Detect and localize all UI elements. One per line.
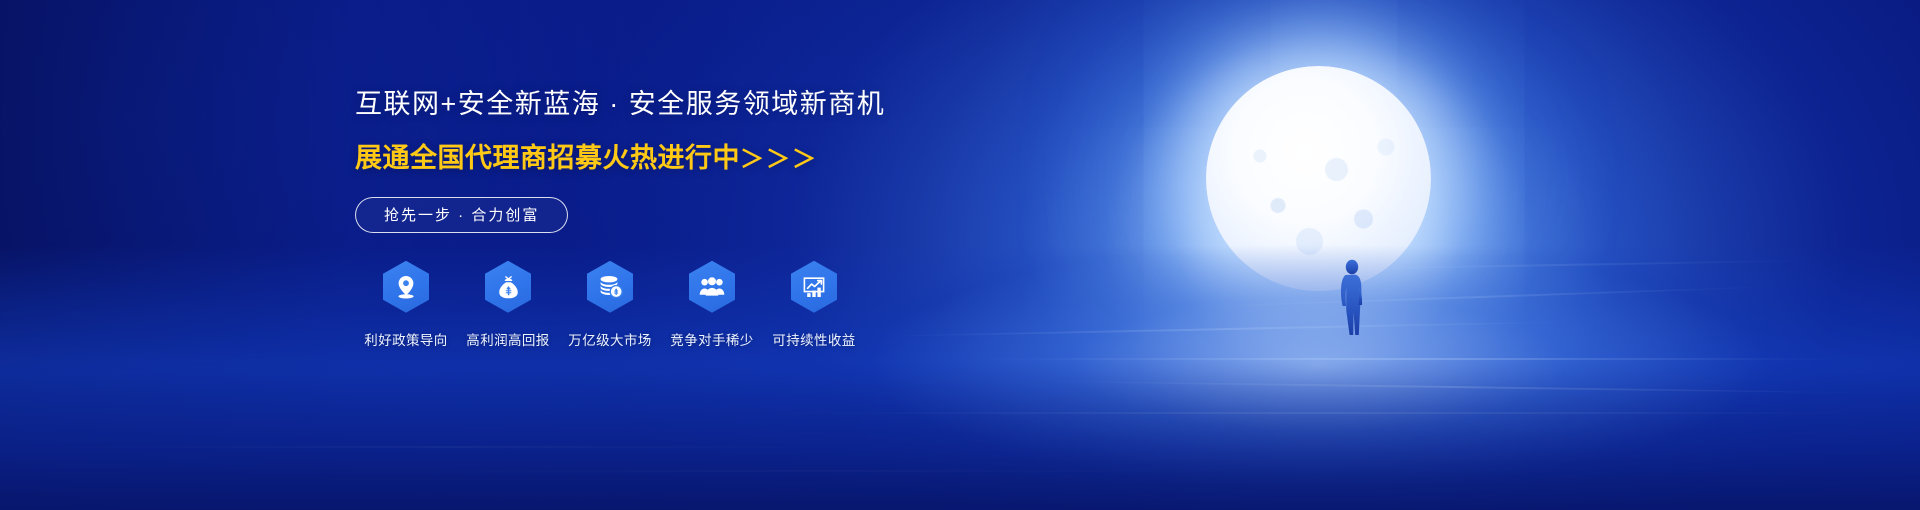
banner-headline: 互联网+安全新蓝海 · 安全服务领域新商机 bbox=[355, 88, 995, 122]
feature-label: 高利润高回报 bbox=[466, 329, 549, 349]
feature-item-competition[interactable]: 竞争对手稀少 bbox=[661, 261, 763, 349]
location-pin-icon bbox=[383, 261, 429, 313]
wave-line bbox=[760, 412, 1910, 414]
wave-line bbox=[1040, 380, 1860, 393]
feature-label: 竞争对手稀少 bbox=[670, 329, 753, 349]
arrows-icon: ＞＞＞ bbox=[740, 146, 818, 173]
banner-subline-text: 展通全国代理商招募火热进行中 bbox=[355, 143, 740, 173]
people-group-icon bbox=[689, 261, 735, 313]
wave-line bbox=[300, 470, 1300, 472]
wave-line bbox=[40, 446, 860, 448]
feature-list: 利好政策导向 高利润高回报 bbox=[355, 261, 995, 349]
feature-label: 利好政策导向 bbox=[364, 329, 447, 349]
feature-item-policy[interactable]: 利好政策导向 bbox=[355, 261, 457, 349]
wave-line bbox=[960, 358, 1860, 360]
wave-line bbox=[1180, 286, 1780, 309]
feature-item-market[interactable]: 万亿级大市场 bbox=[559, 261, 661, 349]
banner-content: 互联网+安全新蓝海 · 安全服务领域新商机 展通全国代理商招募火热进行中＞＞＞ … bbox=[355, 88, 995, 349]
feature-label: 万亿级大市场 bbox=[568, 329, 651, 349]
full-moon-icon bbox=[1206, 66, 1431, 291]
money-bag-yuan-icon bbox=[485, 261, 531, 313]
banner-subline: 展通全国代理商招募火热进行中＞＞＞ bbox=[355, 136, 995, 175]
feature-item-profit[interactable]: 高利润高回报 bbox=[457, 261, 559, 349]
bottom-vignette-overlay bbox=[0, 360, 1920, 510]
promo-banner: 互联网+安全新蓝海 · 安全服务领域新商机 展通全国代理商招募火热进行中＞＞＞ … bbox=[0, 0, 1920, 510]
feature-label: 可持续性收益 bbox=[772, 329, 855, 349]
feature-item-sustainable[interactable]: 可持续性收益 bbox=[763, 261, 865, 349]
bar-chart-growth-icon bbox=[791, 261, 837, 313]
coin-stack-yuan-icon bbox=[587, 261, 633, 313]
cta-pill-button[interactable]: 抢先一步 · 合力创富 bbox=[355, 197, 568, 233]
